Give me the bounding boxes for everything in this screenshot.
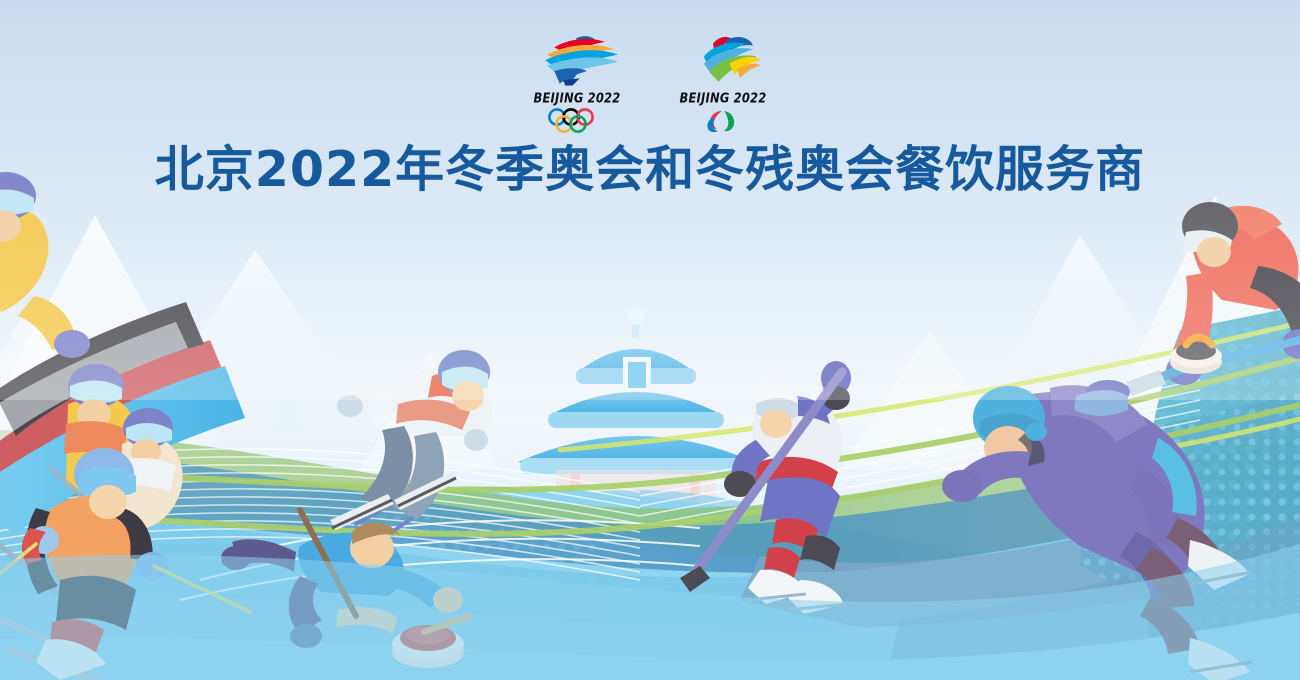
alpine-skier <box>0 448 250 680</box>
curler-sweeping <box>1074 202 1300 416</box>
beijing-2022-sponsor-banner: BEIJING 2022 BEIJIN <box>0 0 1300 680</box>
short-track-skater <box>330 350 492 532</box>
ice-ribbons <box>0 380 1200 580</box>
halftone-dots <box>320 300 1300 640</box>
flowing-waves <box>0 418 1300 680</box>
emblem-row: BEIJING 2022 BEIJIN <box>0 32 1300 140</box>
curling-stone-orange <box>1170 337 1222 374</box>
curling-stone <box>392 616 470 668</box>
olympic-emblem: BEIJING 2022 <box>527 32 627 136</box>
pine-trees <box>270 340 328 450</box>
curler-delivering <box>221 510 470 668</box>
speed-skater <box>942 385 1252 680</box>
ice-hockey-player <box>680 361 851 614</box>
page-title: 北京2022年冬季奥会和冬残奥会餐饮服务商 <box>0 144 1300 196</box>
temple-of-heaven <box>500 307 772 518</box>
green-accent-ribbons <box>0 352 1300 534</box>
beijing-2022-paralympic-mark-icon <box>673 32 773 90</box>
snow-mountains <box>0 195 1300 470</box>
bobsleigh-team <box>0 172 245 612</box>
paralympic-wordmark: BEIJING 2022 <box>673 90 773 106</box>
olympic-rings-icon <box>546 108 608 134</box>
olympic-wordmark: BEIJING 2022 <box>527 90 627 106</box>
paralympic-agitos-icon <box>701 108 745 134</box>
paralympic-emblem: BEIJING 2022 <box>673 32 773 136</box>
beijing-2022-olympic-mark-icon <box>527 32 627 90</box>
